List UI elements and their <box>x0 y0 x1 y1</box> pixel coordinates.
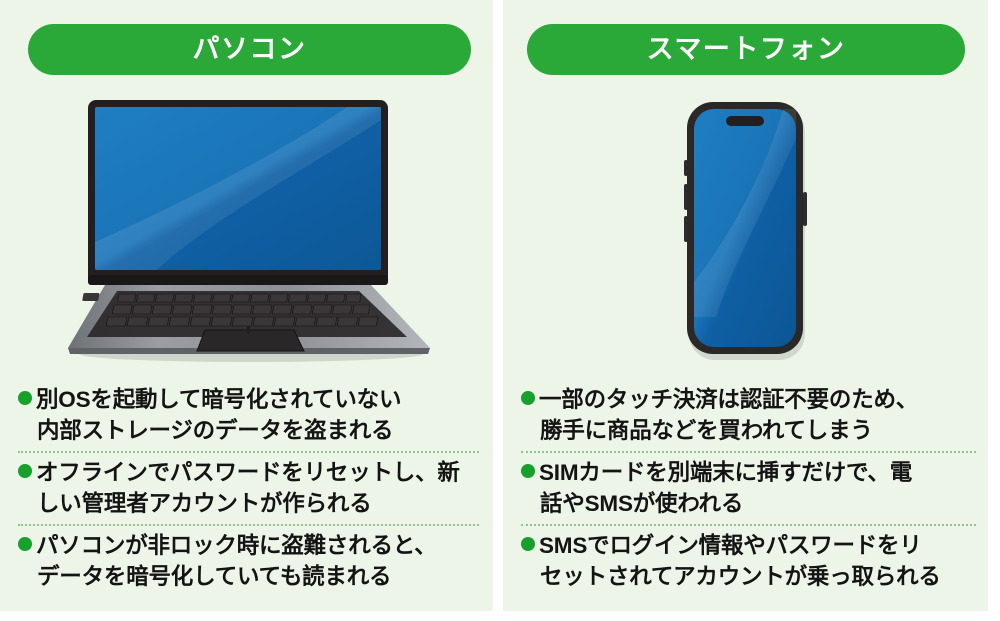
bullet-line: 別OSを起動して暗号化されていない <box>18 384 479 415</box>
smartphone-illustration <box>671 92 821 372</box>
panel-smartphone-bullet-list: 一部のタッチ決済は認証不要のため、 勝手に商品などを買われてしまう SIMカード… <box>503 380 988 611</box>
bullet-line: オフラインでパスワードをリセットし、新 <box>18 457 479 488</box>
laptop-illustration-area <box>0 84 493 380</box>
panel-pc-bullet-list: 別OSを起動して暗号化されていない 内部ストレージのデータを盗まれる オフライン… <box>0 380 493 611</box>
bullet-dot-icon <box>18 537 32 551</box>
bullet-line: 内部ストレージのデータを盗まれる <box>18 415 479 446</box>
bullet-dot-icon <box>18 391 32 405</box>
bullet-dot-icon <box>18 464 32 478</box>
panel-smartphone-header-label: スマートフォン <box>647 36 846 63</box>
bullet-text: オフラインでパスワードをリセットし、新 <box>36 460 460 485</box>
bullet-text: SIMカードを別端末に挿すだけで、電 <box>539 460 912 485</box>
bullet-line: データを暗号化していても読まれる <box>18 561 479 592</box>
smartphone-illustration-area <box>503 84 988 380</box>
list-item: オフラインでパスワードをリセットし、新 しい管理者アカウントが作られる <box>18 451 479 524</box>
bullet-line: SIMカードを別端末に挿すだけで、電 <box>521 457 976 488</box>
bullet-line: パソコンが非ロック時に盗難されると、 <box>18 530 479 561</box>
panel-pc: パソコン <box>0 0 493 611</box>
list-item: 一部のタッチ決済は認証不要のため、 勝手に商品などを買われてしまう <box>521 380 976 451</box>
bullet-text: 別OSを起動して暗号化されていない <box>36 387 401 412</box>
laptop-illustration <box>47 92 447 372</box>
bullet-dot-icon <box>521 464 535 478</box>
panel-smartphone-header: スマートフォン <box>527 24 965 75</box>
bullet-line: 話やSMSが使われる <box>521 488 976 519</box>
list-item: SMSでログイン情報やパスワードをリ セットされてアカウントが乗っ取られる <box>521 524 976 597</box>
bullet-line: 一部のタッチ決済は認証不要のため、 <box>521 384 976 415</box>
panel-pc-header-label: パソコン <box>193 36 307 63</box>
bullet-text: 一部のタッチ決済は認証不要のため、 <box>539 387 918 412</box>
bullet-text: パソコンが非ロック時に盗難されると、 <box>36 533 437 558</box>
comparison-board: パソコン <box>0 0 1000 621</box>
panel-smartphone: スマートフォン <box>503 0 988 611</box>
list-item: 別OSを起動して暗号化されていない 内部ストレージのデータを盗まれる <box>18 380 479 451</box>
panel-pc-header: パソコン <box>28 24 471 75</box>
bullet-line: SMSでログイン情報やパスワードをリ <box>521 530 976 561</box>
bullet-text: SMSでログイン情報やパスワードをリ <box>539 533 922 558</box>
bullet-dot-icon <box>521 391 535 405</box>
list-item: パソコンが非ロック時に盗難されると、 データを暗号化していても読まれる <box>18 524 479 597</box>
bullet-line: しい管理者アカウントが作られる <box>18 488 479 519</box>
bullet-line: セットされてアカウントが乗っ取られる <box>521 561 976 592</box>
bullet-dot-icon <box>521 537 535 551</box>
bullet-line: 勝手に商品などを買われてしまう <box>521 415 976 446</box>
list-item: SIMカードを別端末に挿すだけで、電 話やSMSが使われる <box>521 451 976 524</box>
